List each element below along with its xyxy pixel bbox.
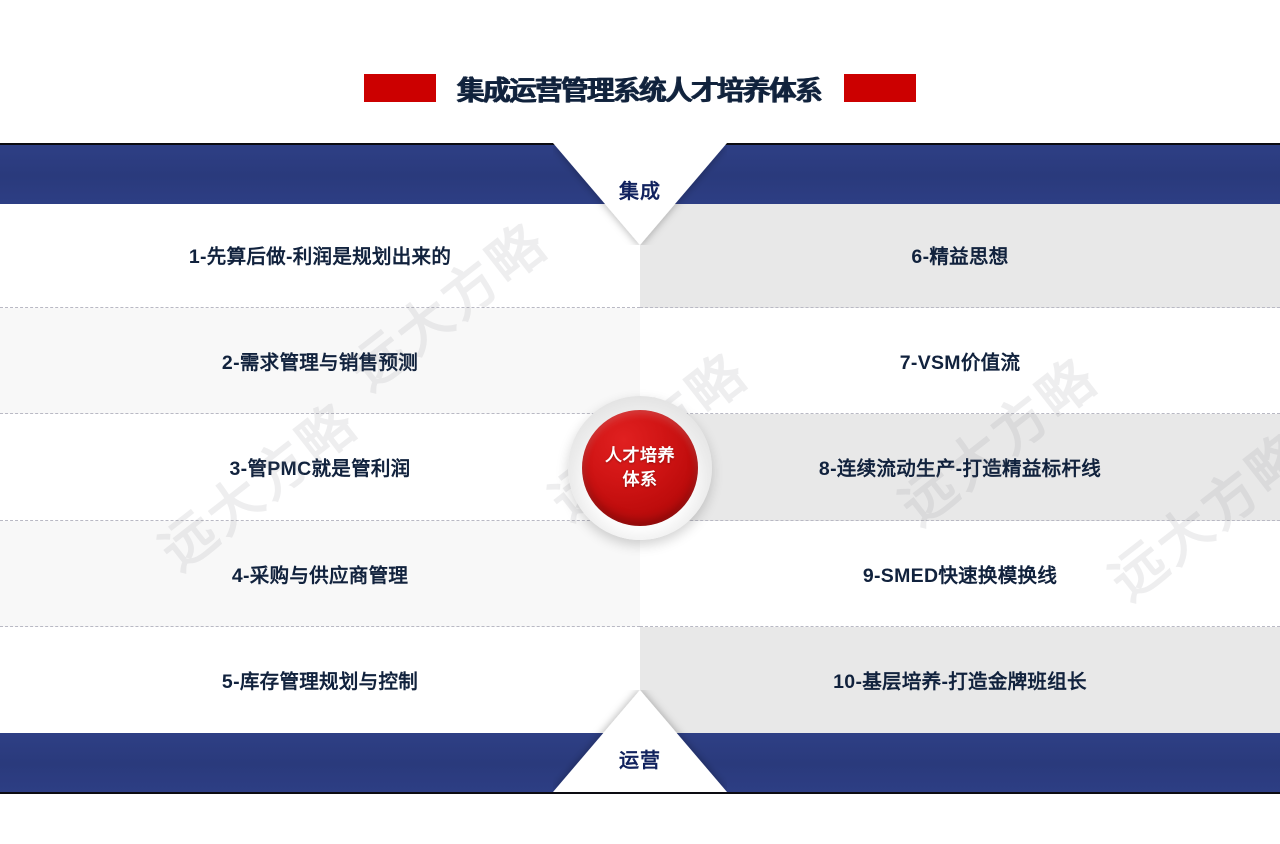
list-item-label: 5-库存管理规划与控制	[222, 665, 418, 694]
list-item-label: 7-VSM价值流	[900, 346, 1021, 375]
column-operations: 6-精益思想 7-VSM价值流 8-连续流动生产-打造精益标杆线 9-SMED快…	[640, 202, 1280, 733]
list-item-label: 6-精益思想	[911, 240, 1008, 269]
list-item[interactable]: 7-VSM价值流	[640, 308, 1280, 414]
title-chip-left	[364, 74, 436, 102]
center-medallion-line2: 体系	[623, 469, 658, 491]
arrow-up-icon: 运营	[553, 690, 727, 792]
arrow-up-label: 运营	[553, 744, 727, 773]
list-item-label: 8-连续流动生产-打造精益标杆线	[819, 452, 1101, 481]
list-item[interactable]: 5-库存管理规划与控制	[0, 627, 640, 733]
list-item[interactable]: 3-管PMC就是管利润	[0, 414, 640, 520]
arrow-down-icon: 集成	[553, 143, 727, 245]
list-item-label: 9-SMED快速换模换线	[863, 559, 1057, 588]
slide-canvas: 集成运营管理系统人才培养体系 1-先算后做-利润是规划出来的 2-需求管理与销售…	[0, 0, 1280, 844]
list-item-label: 1-先算后做-利润是规划出来的	[189, 240, 451, 269]
center-medallion[interactable]: 人才培养 体系	[568, 396, 712, 540]
column-integration: 1-先算后做-利润是规划出来的 2-需求管理与销售预测 3-管PMC就是管利润 …	[0, 202, 640, 733]
list-item[interactable]: 2-需求管理与销售预测	[0, 308, 640, 414]
list-item[interactable]: 1-先算后做-利润是规划出来的	[0, 202, 640, 308]
list-item[interactable]: 4-采购与供应商管理	[0, 521, 640, 627]
page-title: 集成运营管理系统人才培养体系	[0, 62, 1280, 114]
list-item-label: 3-管PMC就是管利润	[230, 452, 411, 481]
list-item[interactable]: 8-连续流动生产-打造精益标杆线	[640, 414, 1280, 520]
center-medallion-line1: 人才培养	[605, 445, 675, 467]
list-item-label: 2-需求管理与销售预测	[222, 346, 418, 375]
list-item[interactable]: 6-精益思想	[640, 202, 1280, 308]
list-item[interactable]: 10-基层培养-打造金牌班组长	[640, 627, 1280, 733]
list-item[interactable]: 9-SMED快速换模换线	[640, 521, 1280, 627]
title-text: 集成运营管理系统人才培养体系	[458, 69, 822, 108]
arrow-down-label: 集成	[553, 175, 727, 204]
list-item-label: 4-采购与供应商管理	[232, 559, 408, 588]
title-chip-right	[844, 74, 916, 102]
center-medallion-core: 人才培养 体系	[582, 410, 698, 526]
list-item-label: 10-基层培养-打造金牌班组长	[833, 665, 1087, 694]
